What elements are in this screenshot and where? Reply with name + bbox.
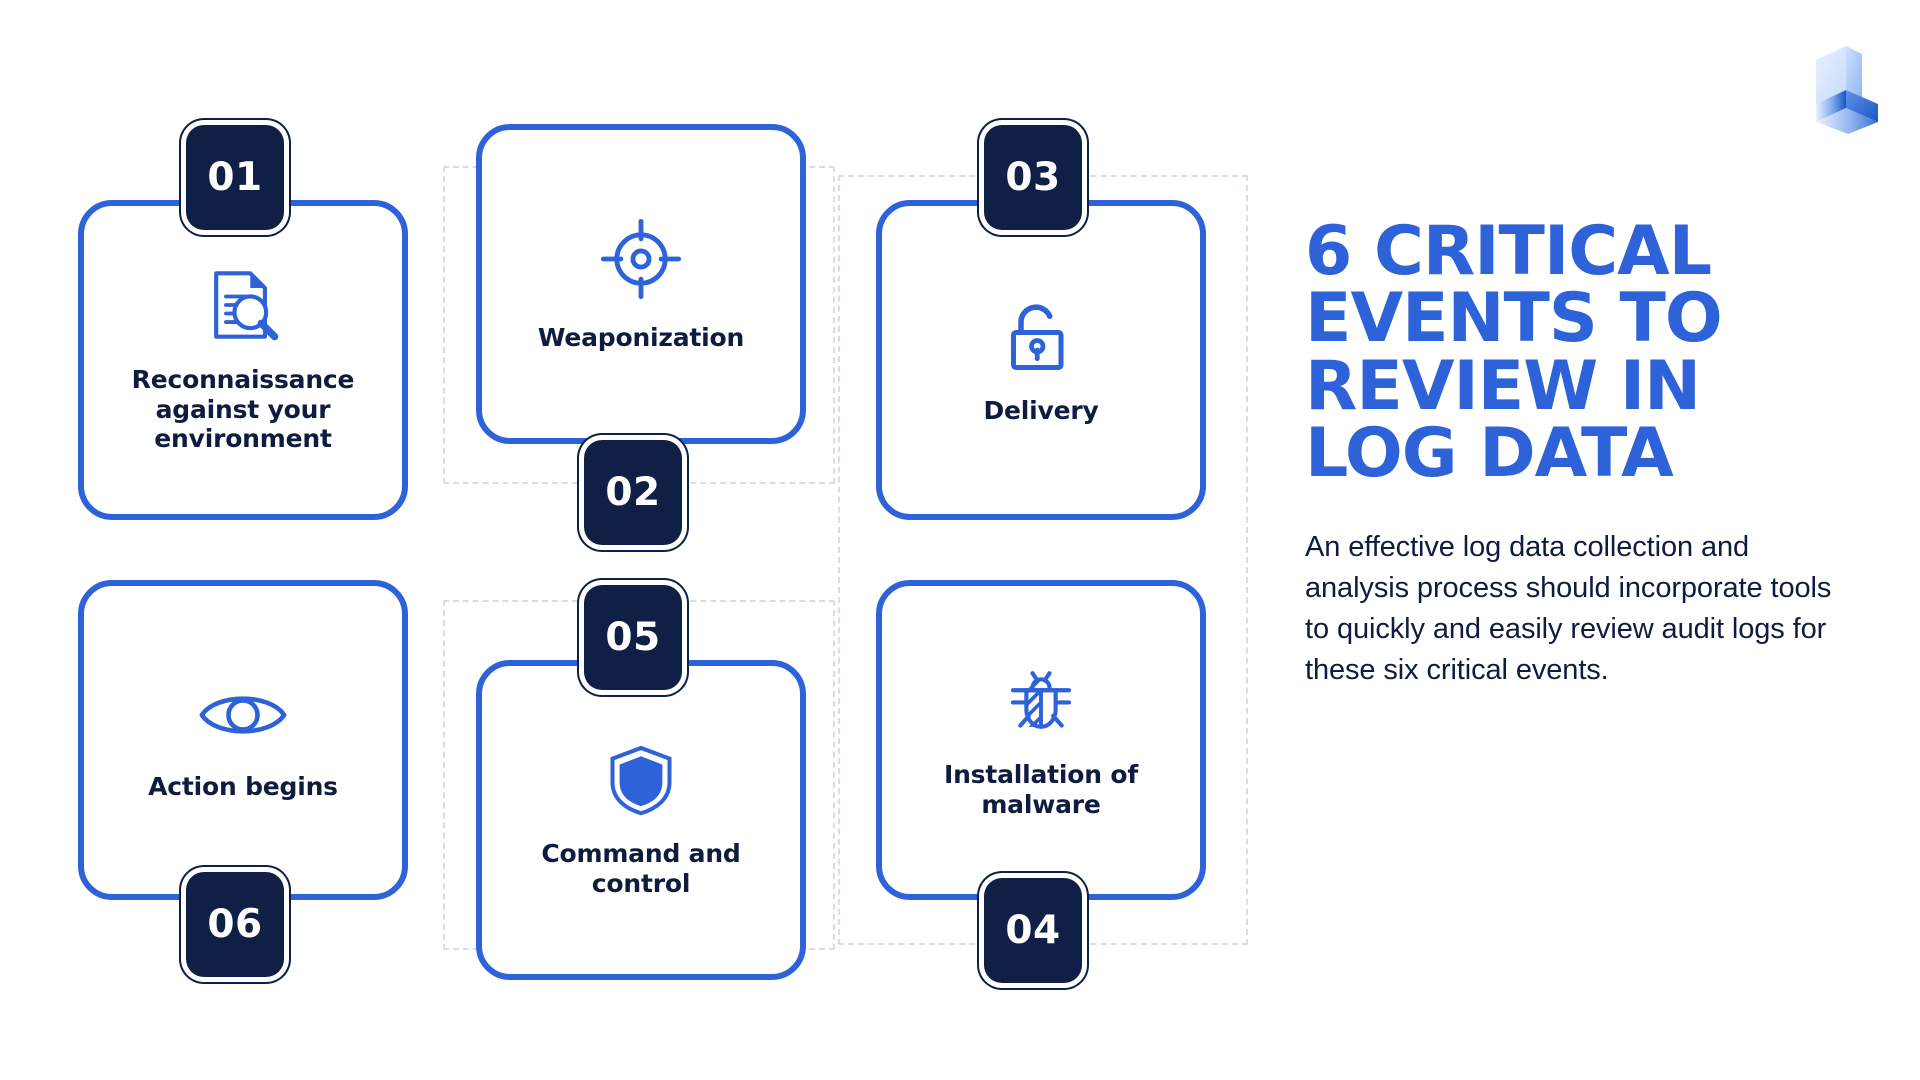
step-badge-01: 01 xyxy=(186,125,284,230)
step-badge-06: 06 xyxy=(186,872,284,977)
step-card-title: Action begins xyxy=(148,772,338,802)
step-badge-03: 03 xyxy=(984,125,1082,230)
step-card-title: Delivery xyxy=(983,396,1098,426)
panel-headline: 6 CRITICAL EVENTS TO REVIEW IN LOG DATA xyxy=(1305,218,1845,487)
bug-icon xyxy=(1002,661,1080,744)
step-card-01[interactable]: Reconnaissance against your environment xyxy=(78,200,408,520)
step-badge-number: 06 xyxy=(207,902,262,947)
info-panel: 6 CRITICAL EVENTS TO REVIEW IN LOG DATA … xyxy=(1305,218,1845,691)
document-search-icon xyxy=(204,266,282,349)
step-badge-number: 05 xyxy=(605,615,660,660)
infographic-canvas: Reconnaissance against your environment … xyxy=(0,0,1920,1080)
step-card-title: Installation of malware xyxy=(898,760,1184,819)
shield-icon xyxy=(603,742,679,823)
crosshair-target-icon xyxy=(598,216,684,307)
eye-icon xyxy=(197,679,289,756)
step-badge-05: 05 xyxy=(584,585,682,690)
step-badge-02: 02 xyxy=(584,440,682,545)
step-badge-number: 04 xyxy=(1005,908,1060,953)
step-badge-number: 02 xyxy=(605,470,660,515)
step-card-04[interactable]: Installation of malware xyxy=(876,580,1206,900)
step-card-title: Command and control xyxy=(498,839,784,898)
step-card-title: Weaponization xyxy=(538,323,744,353)
step-card-03[interactable]: Delivery xyxy=(876,200,1206,520)
step-badge-number: 01 xyxy=(207,155,262,200)
step-card-02[interactable]: Weaponization xyxy=(476,124,806,444)
open-padlock-icon xyxy=(1001,295,1081,380)
step-card-05[interactable]: Command and control xyxy=(476,660,806,980)
panel-body-text: An effective log data collection and ana… xyxy=(1305,527,1845,691)
step-card-06[interactable]: Action begins xyxy=(78,580,408,900)
step-badge-04: 04 xyxy=(984,878,1082,983)
step-badge-number: 03 xyxy=(1005,155,1060,200)
step-card-title: Reconnaissance against your environment xyxy=(100,365,386,454)
